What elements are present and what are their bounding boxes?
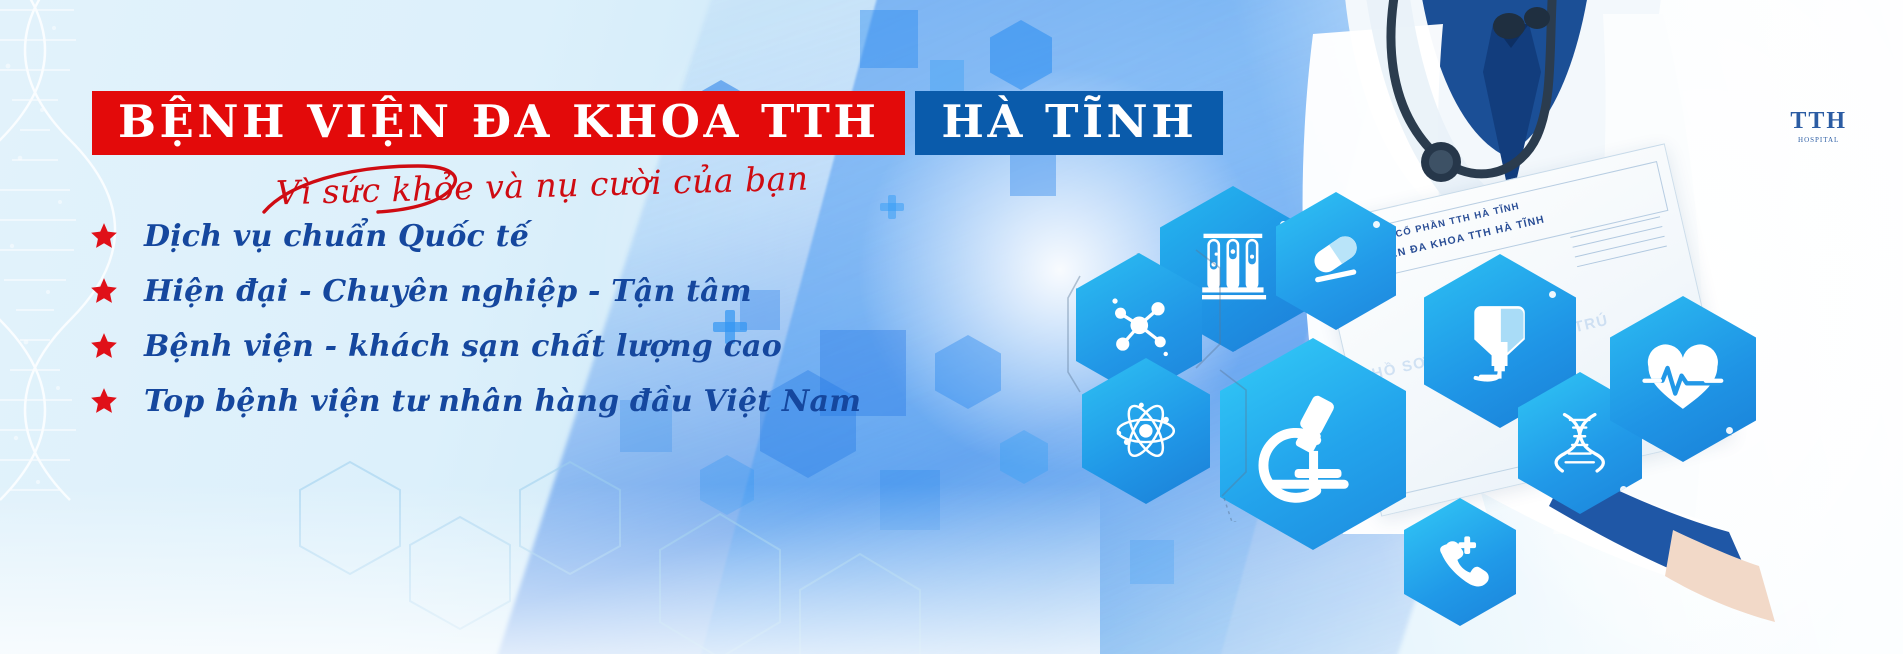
phone-plus-glyph [1429,526,1492,598]
atom-glyph [1110,390,1182,472]
hospital-banner: CÔNG TY CỔ PHẦN TTH HÀ TĨNH BỆNH VIỆN ĐA… [0,0,1903,654]
hospital-name-badge: BỆNH VIỆN ĐA KHOA TTH [92,91,905,155]
hex-dot [1726,427,1733,434]
banner-title-row: BỆNH VIỆN ĐA KHOA TTH HÀ TĨNH [92,91,1223,155]
dna-helix-glyph [1545,403,1614,483]
list-item: Dịch vụ chuẩn Quốc tế [90,215,861,257]
phone-plus-icon [1404,498,1516,626]
test-tubes-glyph [1192,223,1274,316]
list-item-label: Dịch vụ chuẩn Quốc tế [144,219,529,254]
province-badge: HÀ TĨNH [915,91,1223,155]
list-item: Bệnh viện - khách sạn chất lượng cao [90,325,861,367]
star-icon [90,387,118,415]
list-item: Top bệnh viện tư nhân hàng đầu Việt Nam [90,380,861,422]
iv-drip-glyph [1457,292,1542,389]
list-item-label: Hiện đại - Chuyên nghiệp - Tận tâm [144,274,752,309]
star-icon [90,222,118,250]
list-item-label: Bệnh viện - khách sạn chất lượng cao [144,329,782,364]
hospital-name-text: BỆNH VIỆN ĐA KHOA TTH [118,99,879,144]
province-name-text: HÀ TĨNH [941,99,1197,144]
capsule-glyph [1302,222,1369,299]
molecule-glyph [1104,285,1175,366]
hex-dot [1373,221,1380,228]
hex-dot [1549,291,1556,298]
heart-pulse-glyph [1642,333,1724,426]
star-icon [90,277,118,305]
microscope-glyph [1255,378,1370,509]
hex-dot [1620,486,1627,493]
star-icon [90,332,118,360]
benefits-list: Dịch vụ chuẩn Quốc tế Hiện đại - Chuyên … [90,215,861,435]
list-item: Hiện đại - Chuyên nghiệp - Tận tâm [90,270,861,312]
list-item-label: Top bệnh viện tư nhân hàng đầu Việt Nam [144,384,861,419]
tagline-text: Vì sức khỏe và nụ cười của bạn [276,159,809,213]
banner-content: BỆNH VIỆN ĐA KHOA TTH HÀ TĨNH Vì sức khỏ… [0,0,1000,654]
